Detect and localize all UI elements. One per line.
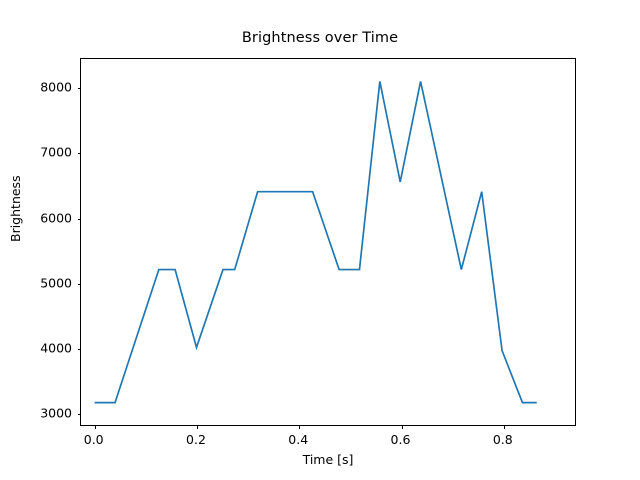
data-line-series: [81, 59, 575, 425]
y-tick-mark: [78, 88, 82, 89]
x-tick-label: 0.6: [391, 432, 411, 447]
x-axis-label: Time [s]: [80, 452, 576, 467]
y-tick-label: 8000: [22, 80, 72, 95]
y-tick-label: 6000: [22, 210, 72, 225]
figure-canvas: Brightness over Time Brightness 30004000…: [0, 0, 640, 480]
y-tick-mark: [78, 349, 82, 350]
x-tick-mark: [197, 425, 198, 429]
y-tick-mark: [78, 219, 82, 220]
x-tick-mark: [504, 425, 505, 429]
chart-title: Brightness over Time: [0, 30, 640, 46]
y-tick-mark: [78, 153, 82, 154]
brightness-line: [95, 81, 537, 402]
y-tick-label: 5000: [22, 275, 72, 290]
y-tick-label: 4000: [22, 341, 72, 356]
y-tick-label: 7000: [22, 145, 72, 160]
x-tick-label: 0.8: [493, 432, 513, 447]
plot-area: [80, 58, 576, 426]
x-tick-mark: [95, 425, 96, 429]
y-axis-label: Brightness: [8, 175, 23, 242]
x-tick-label: 0.4: [288, 432, 308, 447]
y-tick-mark: [78, 284, 82, 285]
x-tick-label: 0.0: [84, 432, 104, 447]
x-tick-mark: [299, 425, 300, 429]
y-tick-mark: [78, 414, 82, 415]
x-tick-label: 0.2: [186, 432, 206, 447]
x-tick-mark: [402, 425, 403, 429]
y-tick-label: 3000: [22, 406, 72, 421]
